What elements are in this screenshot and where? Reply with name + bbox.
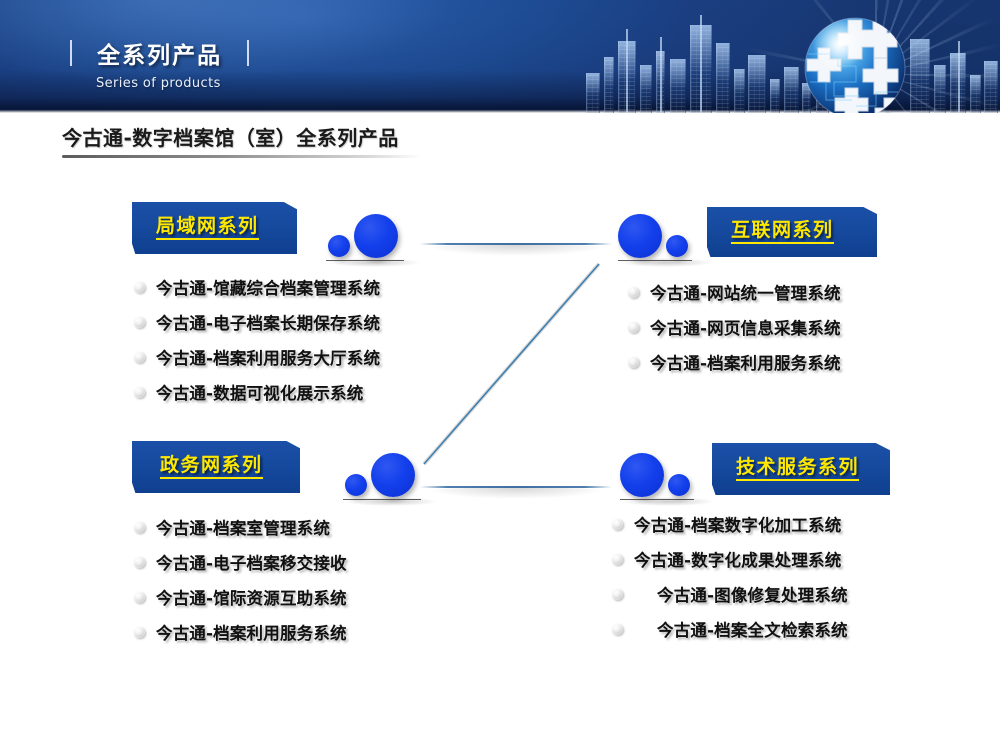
list-item[interactable]: 今古通-数字化成果处理系统 — [612, 547, 848, 571]
product-list-internet: 今古通-网站统一管理系统 今古通-网页信息采集系统 今古通-档案利用服务系统 — [628, 280, 841, 385]
list-item[interactable]: 今古通-档案全文检索系统 — [612, 617, 848, 641]
sphere-bullet-icon — [628, 287, 639, 298]
group-banner-lan[interactable]: 局域网系列 — [132, 202, 297, 254]
list-item-label: 今古通-图像修复处理系统 — [657, 582, 848, 606]
sphere-bullet-icon — [612, 624, 623, 635]
product-list-govnet: 今古通-档案室管理系统 今古通-电子档案移交接收 今古通-馆际资源互助系统 今古… — [134, 515, 347, 655]
header-title-cn: 全系列产品 — [97, 36, 222, 70]
decor-circle-cluster-lan — [326, 208, 428, 270]
connector-bottom-shadow — [424, 488, 608, 499]
list-item[interactable]: 今古通-馆际资源互助系统 — [134, 585, 347, 609]
sphere-bullet-icon — [628, 357, 639, 368]
decor-circle-large — [354, 214, 398, 258]
list-item[interactable]: 今古通-电子档案长期保存系统 — [134, 310, 380, 334]
connector-top-shadow — [424, 245, 608, 256]
list-item-label: 今古通-数字化成果处理系统 — [634, 547, 841, 571]
list-item-label: 今古通-档案利用服务系统 — [156, 620, 347, 644]
list-item[interactable]: 今古通-档案室管理系统 — [134, 515, 347, 539]
product-list-techservice: 今古通-档案数字化加工系统 今古通-数字化成果处理系统 今古通-图像修复处理系统… — [612, 512, 848, 652]
decor-circle-large — [620, 453, 664, 497]
list-item-label: 今古通-电子档案长期保存系统 — [156, 310, 380, 334]
list-item-label: 今古通-档案利用服务大厅系统 — [156, 345, 380, 369]
sphere-bullet-icon — [134, 387, 145, 398]
globe-puzzle-icon — [790, 6, 920, 113]
title-underline — [62, 155, 422, 158]
list-item-label: 今古通-档案利用服务系统 — [650, 350, 841, 374]
sphere-bullet-icon — [612, 519, 623, 530]
sphere-bullet-icon — [612, 589, 623, 600]
list-item[interactable]: 今古通-电子档案移交接收 — [134, 550, 347, 574]
sphere-bullet-icon — [134, 352, 145, 363]
list-item[interactable]: 今古通-档案利用服务系统 — [628, 350, 841, 374]
slide-canvas: 全系列产品 Series of products 今古通-数字档案馆（室）全系列… — [0, 0, 1000, 750]
list-item-label: 今古通-电子档案移交接收 — [156, 550, 347, 574]
slide-title-wrap: 今古通-数字档案馆（室）全系列产品 — [62, 122, 482, 158]
list-item-label: 今古通-网站统一管理系统 — [650, 280, 841, 304]
list-item[interactable]: 今古通-档案利用服务系统 — [134, 620, 347, 644]
group-banner-label: 互联网系列 — [731, 220, 834, 245]
sphere-bullet-icon — [134, 627, 145, 638]
list-item[interactable]: 今古通-网站统一管理系统 — [628, 280, 841, 304]
sphere-bullet-icon — [134, 557, 145, 568]
group-banner-label: 政务网系列 — [160, 455, 263, 480]
header-title-block: 全系列产品 Series of products — [70, 36, 249, 91]
decor-circle-large — [618, 214, 662, 258]
header-left-rule — [70, 40, 72, 66]
list-item[interactable]: 今古通-馆藏综合档案管理系统 — [134, 275, 380, 299]
list-item-label: 今古通-档案全文检索系统 — [657, 617, 848, 641]
sphere-bullet-icon — [134, 317, 145, 328]
header-band: 全系列产品 Series of products — [0, 0, 1000, 113]
decor-circle-small — [668, 474, 690, 496]
connector-line-diagonal — [418, 258, 604, 470]
decor-circle-large — [371, 453, 415, 497]
sphere-bullet-icon — [628, 322, 639, 333]
decor-circle-cluster-internet — [618, 208, 720, 270]
group-banner-govnet[interactable]: 政务网系列 — [132, 441, 300, 493]
list-item[interactable]: 今古通-图像修复处理系统 — [612, 582, 848, 606]
group-banner-internet[interactable]: 互联网系列 — [707, 207, 877, 257]
list-item-label: 今古通-档案室管理系统 — [156, 515, 330, 539]
group-banner-techservice[interactable]: 技术服务系列 — [712, 443, 890, 495]
decor-circle-small — [345, 474, 367, 496]
list-item[interactable]: 今古通-档案利用服务大厅系统 — [134, 345, 380, 369]
page-title: 今古通-数字档案馆（室）全系列产品 — [62, 122, 482, 151]
sphere-bullet-icon — [134, 282, 145, 293]
sphere-bullet-icon — [134, 522, 145, 533]
decor-circle-cluster-govnet — [343, 447, 445, 509]
header-title-en: Series of products — [96, 76, 249, 91]
sphere-bullet-icon — [612, 554, 623, 565]
decor-circle-cluster-techservice — [620, 447, 722, 509]
list-item-label: 今古通-数据可视化展示系统 — [156, 380, 363, 404]
list-item-label: 今古通-网页信息采集系统 — [650, 315, 841, 339]
decor-circle-small — [328, 235, 350, 257]
list-item-label: 今古通-馆际资源互助系统 — [156, 585, 347, 609]
sphere-bullet-icon — [134, 592, 145, 603]
group-banner-label: 技术服务系列 — [736, 457, 859, 482]
list-item-label: 今古通-馆藏综合档案管理系统 — [156, 275, 380, 299]
list-item-label: 今古通-档案数字化加工系统 — [634, 512, 841, 536]
list-item[interactable]: 今古通-网页信息采集系统 — [628, 315, 841, 339]
product-list-lan: 今古通-馆藏综合档案管理系统 今古通-电子档案长期保存系统 今古通-档案利用服务… — [134, 275, 380, 415]
list-item[interactable]: 今古通-档案数字化加工系统 — [612, 512, 848, 536]
header-right-rule — [247, 40, 249, 66]
decor-circle-small — [666, 235, 688, 257]
list-item[interactable]: 今古通-数据可视化展示系统 — [134, 380, 380, 404]
group-banner-label: 局域网系列 — [156, 216, 259, 241]
